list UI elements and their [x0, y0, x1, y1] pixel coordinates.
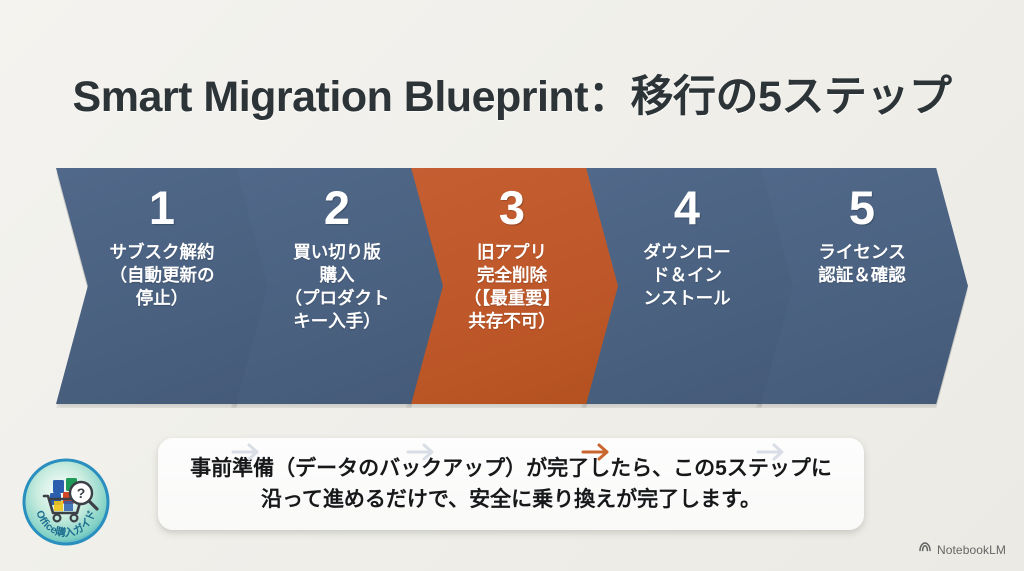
step-label: 旧アプリ完全削除（【最重要】共存不可）: [448, 241, 576, 333]
svg-text:?: ?: [77, 485, 86, 501]
step-label: ライセンス認証＆確認: [798, 241, 926, 287]
step-label: 買い切り版購入（プロダクトキー入手）: [273, 241, 401, 333]
arrow-1-to-2-icon: [230, 440, 264, 464]
process-step-1[interactable]: 1サブスク解約（自動更新の停止）: [56, 168, 268, 404]
step-number: 4: [674, 184, 700, 231]
process-chevron-strip: 1サブスク解約（自動更新の停止）2買い切り版購入（プロダクトキー入手）3旧アプリ…: [56, 168, 968, 404]
arrow-2-to-3-icon: [405, 440, 439, 464]
notebooklm-watermark: NotebookLM: [918, 540, 1006, 559]
arrow-3-to-4-icon: [580, 440, 614, 464]
arrow-4-to-5-icon: [755, 440, 789, 464]
page-title: Smart Migration Blueprint：移行の5ステップ: [0, 62, 1024, 124]
slide-canvas: Smart Migration Blueprint：移行の5ステップ 1サブスク…: [0, 0, 1024, 571]
notebooklm-icon: [918, 540, 932, 559]
step-number: 2: [324, 184, 350, 231]
office-purchase-guide-badge: ? Office購入ガイド: [20, 456, 112, 548]
step-label: ダウンロード＆インンストール: [623, 241, 751, 310]
notebooklm-label: NotebookLM: [937, 543, 1006, 557]
step-number: 5: [849, 184, 875, 231]
step-label: サブスク解約（自動更新の停止）: [98, 241, 226, 310]
step-number: 3: [499, 184, 525, 231]
step-number: 1: [149, 184, 175, 231]
summary-callout-text: 事前準備（データのバックアップ）が完了したら、この5ステップに沿って進めるだけで…: [184, 453, 838, 516]
